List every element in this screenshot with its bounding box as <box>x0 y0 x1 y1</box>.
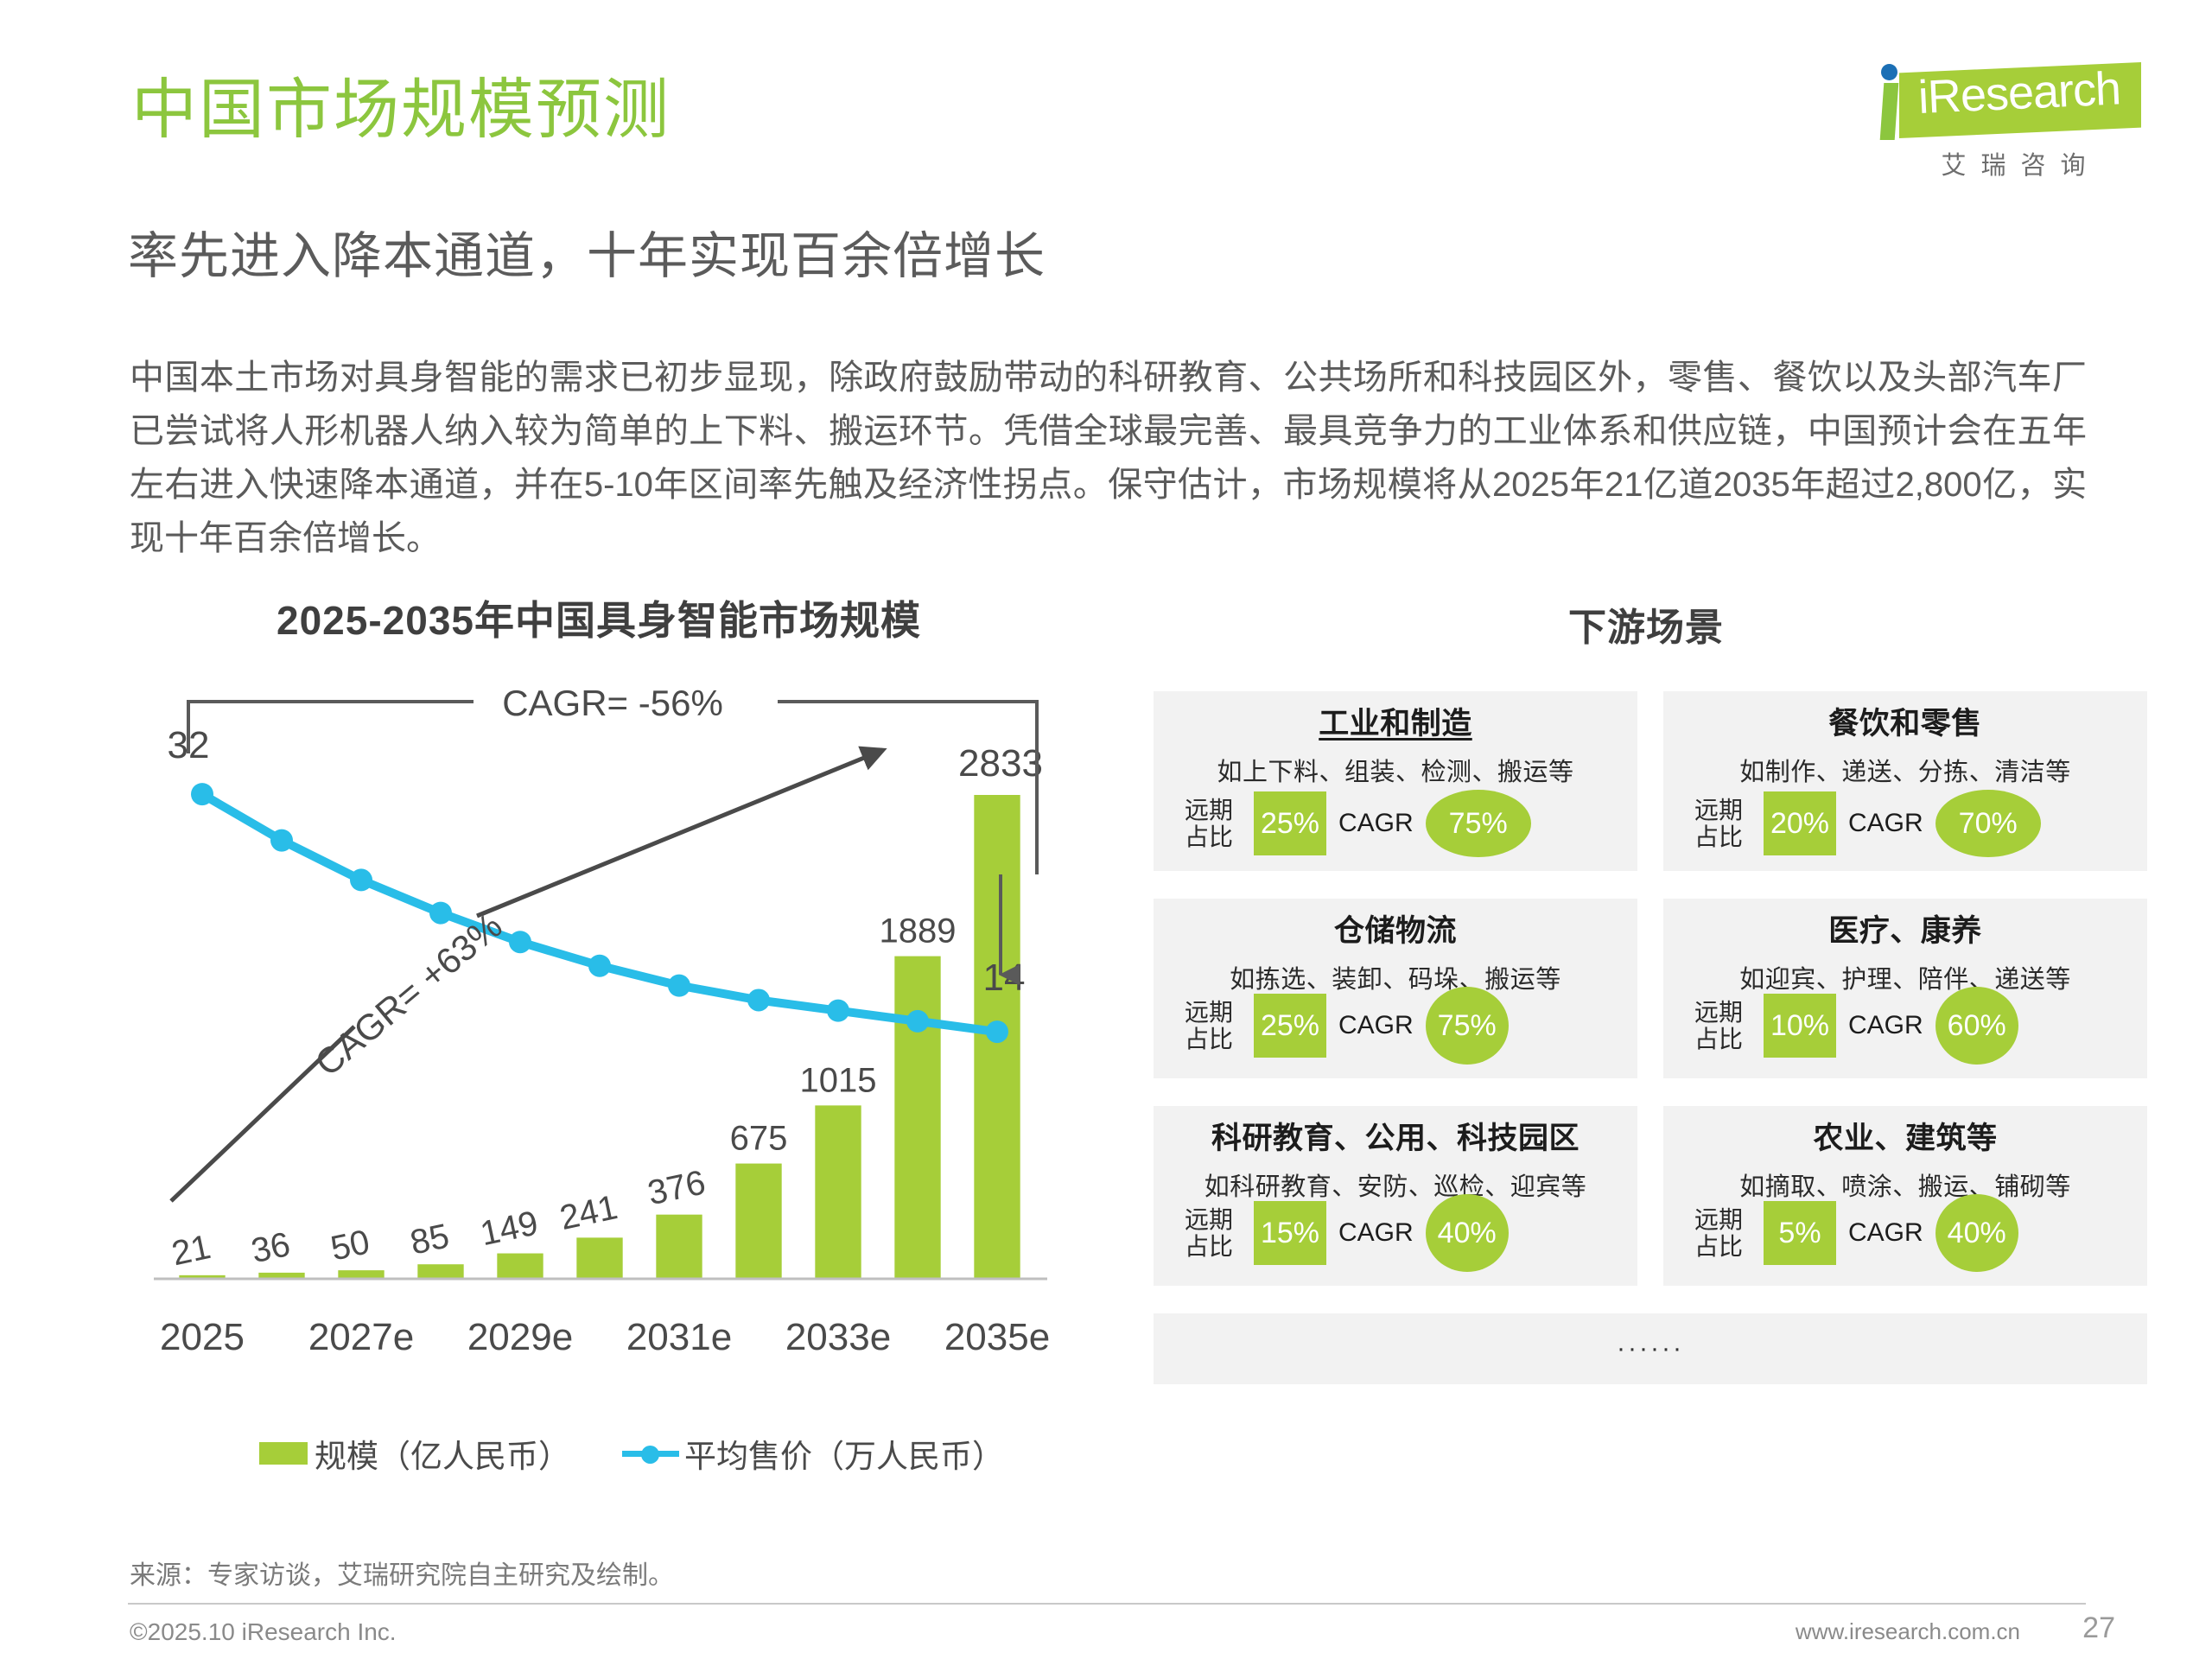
scenario-card-metrics: 远期占比10%CAGR60% <box>1694 987 2130 1065</box>
cagr-value-badge: 40% <box>1935 1194 2018 1272</box>
bar-value-label: 21 <box>168 1228 214 1273</box>
chart-bar <box>576 1237 622 1279</box>
share-value-badge: 10% <box>1764 994 1836 1058</box>
scenario-card-description: 如上下料、组装、检测、搬运等 <box>1154 752 1637 788</box>
cagr-value-badge: 40% <box>1426 1194 1509 1272</box>
cagr-value-badge: 75% <box>1426 790 1531 857</box>
chart-bar <box>497 1254 543 1279</box>
source-note: 来源：专家访谈，艾瑞研究院自主研究及绘制。 <box>130 1554 674 1592</box>
scenario-card-title: 仓储物流 <box>1154 914 1637 949</box>
downstream-cards: 工业和制造如上下料、组装、检测、搬运等远期占比25%CAGR75%餐饮和零售如制… <box>1154 691 2147 1384</box>
asp-point <box>986 1020 1008 1043</box>
logo-wordmark: iResearch <box>1917 61 2136 124</box>
logo-i-dot-icon <box>1881 64 1897 80</box>
x-tick-label: 2029e <box>467 1316 573 1358</box>
legend-label-line: 平均售价（万人民币） <box>684 1430 1004 1477</box>
iresearch-logo: iResearch 艾瑞咨询 <box>1865 50 2150 180</box>
bar-value-label-final: 2833 <box>958 742 1043 785</box>
page-subtitle: 率先进入降本通道，十年实现百余倍增长 <box>128 232 1046 282</box>
bar-value-label: 376 <box>645 1163 709 1212</box>
chart-bar <box>656 1215 702 1279</box>
scenario-card-title: 餐饮和零售 <box>1663 707 2147 741</box>
share-label: 远期占比 <box>1185 797 1242 851</box>
scenario-card-title: 工业和制造 <box>1154 707 1637 741</box>
scenario-card-metrics: 远期占比20%CAGR70% <box>1694 790 2130 857</box>
legend-line-icon <box>622 1442 679 1465</box>
bar-value-label: 1889 <box>880 912 957 950</box>
chart-bar <box>815 1105 861 1279</box>
logo-i-stem-icon <box>1880 83 1899 140</box>
x-tick-label: 2033e <box>785 1316 891 1358</box>
chart-bar <box>417 1264 463 1279</box>
cagr-label: CAGR <box>1848 1218 1923 1248</box>
chart-canvas: 213650851492413766751015188928333214CAGR… <box>138 683 1123 1434</box>
asp-point <box>191 783 213 805</box>
asp-point <box>429 902 452 925</box>
share-label: 远期占比 <box>1185 1206 1242 1261</box>
growth-arrow-icon <box>477 750 883 916</box>
share-value-badge: 15% <box>1254 1201 1326 1265</box>
legend-item-line: 平均售价（万人民币） <box>622 1430 1004 1477</box>
scenario-card[interactable]: 工业和制造如上下料、组装、检测、搬运等远期占比25%CAGR75% <box>1154 691 1637 871</box>
chart-bar <box>894 957 940 1279</box>
legend-swatch-icon <box>259 1442 308 1465</box>
market-size-chart: 213650851492413766751015188928333214CAGR… <box>138 683 1123 1434</box>
cagr-decline-annotation: CAGR= -56% <box>502 683 723 723</box>
page-number: 27 <box>2082 1611 2115 1645</box>
cagr-value-badge: 60% <box>1935 987 2018 1065</box>
scenario-card-metrics: 远期占比25%CAGR75% <box>1185 790 1620 857</box>
legend-label-bar: 规模（亿人民币） <box>315 1430 570 1477</box>
card-row: 科研教育、公用、科技园区如科研教育、安防、巡检、迎宾等远期占比15%CAGR40… <box>1154 1106 2147 1286</box>
bar-value-label: 50 <box>327 1223 373 1268</box>
cagr-label: CAGR <box>1338 1011 1414 1040</box>
scenario-card-title: 医疗、康养 <box>1663 914 2147 949</box>
scenario-card[interactable]: 科研教育、公用、科技园区如科研教育、安防、巡检、迎宾等远期占比15%CAGR40… <box>1154 1106 1637 1286</box>
scenario-card-title: 农业、建筑等 <box>1663 1122 2147 1156</box>
scenario-card[interactable]: 农业、建筑等如摘取、喷涂、搬运、铺砌等远期占比5%CAGR40% <box>1663 1106 2147 1286</box>
share-value-badge: 5% <box>1764 1201 1836 1265</box>
downstream-panel-title: 下游场景 <box>1568 596 1724 652</box>
copyright: ©2025.10 iResearch Inc. <box>130 1618 397 1646</box>
asp-point <box>668 975 690 997</box>
bar-value-label: 675 <box>730 1120 788 1158</box>
cagr-value-badge: 70% <box>1935 790 2041 857</box>
cagr-value-badge: 75% <box>1426 987 1509 1065</box>
bar-value-label: 85 <box>407 1217 453 1262</box>
x-tick-label: 2025 <box>160 1316 245 1358</box>
footer-divider <box>128 1603 2086 1605</box>
cagr-label: CAGR <box>1848 809 1923 838</box>
share-label: 远期占比 <box>1694 1206 1751 1261</box>
cagr-label: CAGR <box>1338 1218 1414 1248</box>
website-link[interactable]: www.iresearch.com.cn <box>1796 1618 2020 1645</box>
scenario-card-description: 如制作、递送、分拣、清洁等 <box>1663 752 2147 788</box>
asp-point <box>588 955 611 977</box>
cagr-label: CAGR <box>1338 809 1414 838</box>
scenario-card-metrics: 远期占比15%CAGR40% <box>1185 1194 1620 1272</box>
bar-value-label: 149 <box>477 1204 541 1253</box>
page-title: 中国市场规模预测 <box>131 78 671 143</box>
asp-point <box>270 829 293 852</box>
body-paragraph: 中国本土市场对具身智能的需求已初步显现，除政府鼓励带动的科研教育、公共场所和科技… <box>130 351 2087 565</box>
x-tick-label: 2027e <box>308 1316 414 1358</box>
scenario-card-title: 科研教育、公用、科技园区 <box>1154 1122 1637 1156</box>
x-tick-label: 2031e <box>626 1316 732 1358</box>
card-row: 仓储物流如拣选、装卸、码垛、搬运等远期占比25%CAGR75%医疗、康养如迎宾、… <box>1154 899 2147 1078</box>
legend-item-bar: 规模（亿人民币） <box>259 1430 570 1477</box>
share-value-badge: 25% <box>1254 791 1326 855</box>
asp-last-label: 14 <box>983 957 1026 999</box>
cagr-label: CAGR <box>1848 1011 1923 1040</box>
chart-title: 2025-2035年中国具身智能市场规模 <box>276 589 921 646</box>
x-tick-label: 2035e <box>944 1316 1050 1358</box>
asp-point <box>906 1010 929 1033</box>
scenario-card[interactable]: 仓储物流如拣选、装卸、码垛、搬运等远期占比25%CAGR75% <box>1154 899 1637 1078</box>
bar-value-label: 1015 <box>800 1061 877 1099</box>
card-row: 工业和制造如上下料、组装、检测、搬运等远期占比25%CAGR75%餐饮和零售如制… <box>1154 691 2147 871</box>
share-value-badge: 25% <box>1254 994 1326 1058</box>
asp-point <box>747 988 770 1011</box>
asp-point <box>350 868 372 891</box>
share-label: 远期占比 <box>1694 797 1751 851</box>
share-label: 远期占比 <box>1694 999 1751 1053</box>
slide-page: 中国市场规模预测 率先进入降本通道，十年实现百余倍增长 iResearch 艾瑞… <box>0 0 2212 1659</box>
share-value-badge: 20% <box>1764 791 1836 855</box>
chart-bar <box>735 1164 781 1279</box>
share-label: 远期占比 <box>1185 999 1242 1053</box>
bar-value-label: 241 <box>556 1188 620 1237</box>
chart-legend: 规模（亿人民币） 平均售价（万人民币） <box>259 1430 1037 1482</box>
scenario-card-metrics: 远期占比5%CAGR40% <box>1694 1194 2130 1272</box>
scenario-card[interactable]: 医疗、康养如迎宾、护理、陪伴、递送等远期占比10%CAGR60% <box>1663 899 2147 1078</box>
bar-value-label: 36 <box>248 1225 294 1270</box>
asp-line <box>202 794 997 1032</box>
asp-point <box>509 931 531 953</box>
asp-point <box>827 1000 849 1022</box>
logo-chinese-name: 艾瑞咨询 <box>1897 145 2144 181</box>
cagr-growth-annotation: CAGR= +63% <box>308 905 510 1084</box>
more-scenarios-card: ······ <box>1154 1313 2147 1384</box>
scenario-card[interactable]: 餐饮和零售如制作、递送、分拣、清洁等远期占比20%CAGR70% <box>1663 691 2147 871</box>
cagr-bracket-left <box>188 702 474 753</box>
scenario-card-metrics: 远期占比25%CAGR75% <box>1185 987 1620 1065</box>
